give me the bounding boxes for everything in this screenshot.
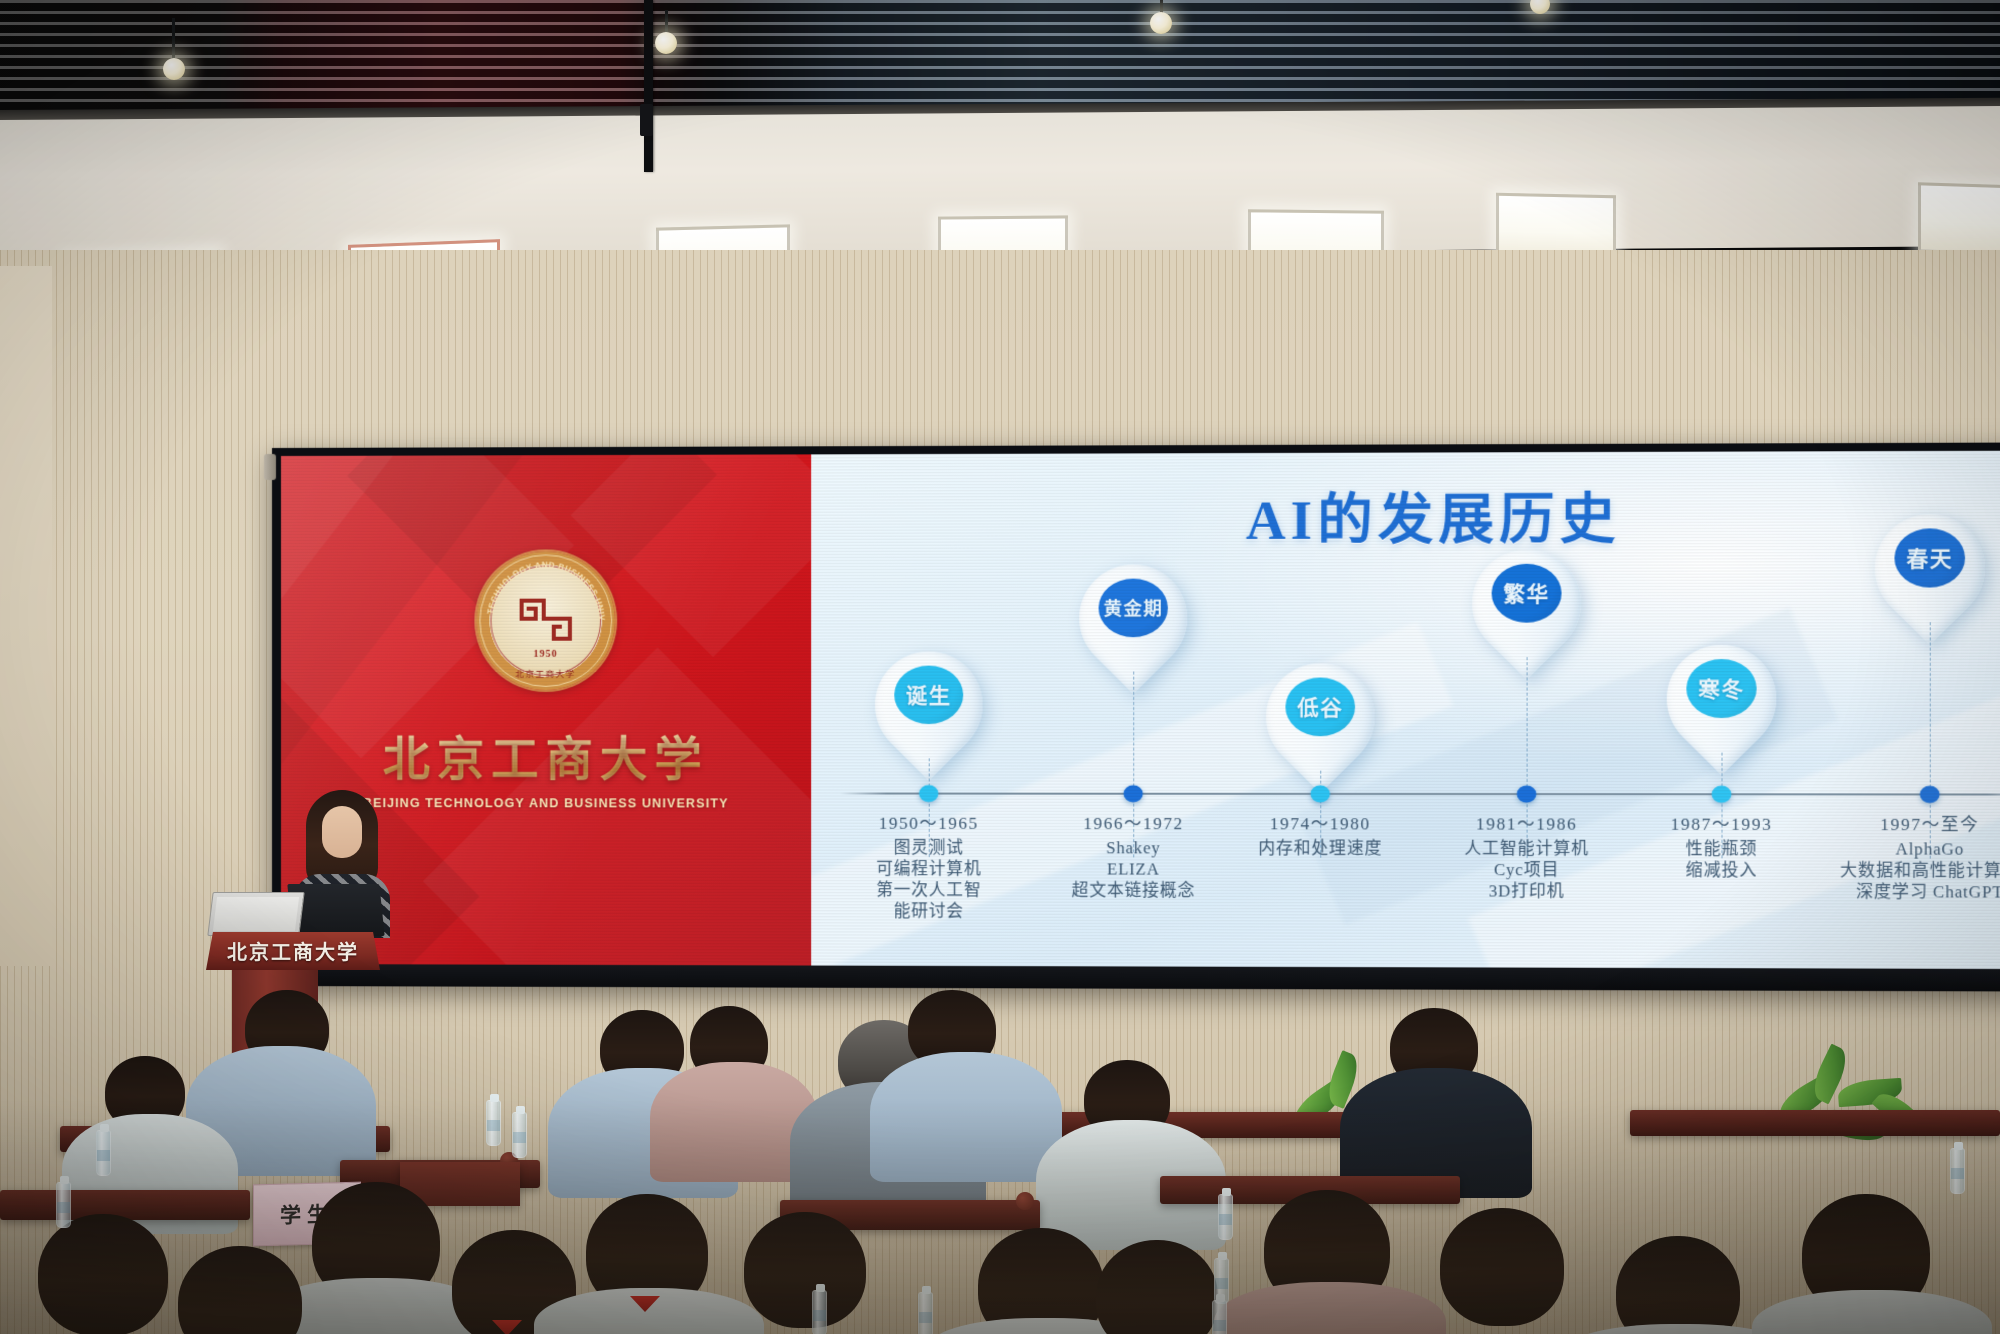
timeline-entry-line-1: ELIZA [1016,858,1251,880]
timeline-entry-5: 1997～至今AlphaGo大数据和高性能计算机深度学习 ChatGPT [1811,810,2000,903]
university-seal-icon: BEIJING TECHNOLOGY AND BUSINESS UNIVERSI… [476,551,615,690]
presenter-face [322,806,362,858]
timeline-entry-line-0: 内存和处理速度 [1203,837,1439,859]
timeline-entry-line-1: 可编程计算机 [812,858,1045,880]
university-name-cn: 北京工商大学 [383,720,709,789]
timeline-pin-1: 黄金期 [1079,564,1187,671]
timeline-entry-0: 1950～1965图灵测试可编程计算机第一次人工智能研讨会 [812,809,1045,923]
timeline-entry-years: 1974～1980 [1203,809,1439,835]
timeline-dot-0 [919,785,938,802]
timeline-entry-line-2: 第一次人工智 [812,879,1045,901]
pin-label: 低谷 [1285,678,1355,737]
timeline-entry-line-2: 3D打印机 [1408,880,1645,902]
projection-screen: BEIJING TECHNOLOGY AND BUSINESS UNIVERSI… [272,442,2000,991]
pin-label: 诞生 [894,666,963,724]
pendant-light [655,32,677,54]
timeline-entry-line-1: 缩减投入 [1603,859,1841,881]
timeline-dot-5 [1920,786,1940,803]
pin-label: 黄金期 [1099,579,1168,638]
timeline-entry-2: 1974～1980内存和处理速度 [1203,809,1439,859]
pin-label: 春天 [1894,528,1965,587]
timeline-entries: 1950～1965图灵测试可编程计算机第一次人工智能研讨会1966～1972Sh… [811,451,2000,455]
timeline-entry-line-2: 深度学习 ChatGPT [1811,881,2000,903]
pendant-light [1150,12,1172,34]
timeline-dot-4 [1712,786,1732,803]
presenter-laptop [207,892,304,936]
timeline-pins: 诞生黄金期低谷繁华寒冬春天 [811,451,2000,455]
timeline-entry-line-0: 图灵测试 [812,837,1045,859]
timeline-pin-2: 低谷 [1266,663,1375,770]
timeline-pin-5: 春天 [1875,514,1985,622]
timeline-entry-line-0: 性能瓶颈 [1603,838,1841,860]
ceiling-cable-clamp [640,104,653,136]
room-shadow [0,1100,2000,1334]
slide-title: AI的发展历史 [811,473,2000,556]
timeline-entry-years: 1997～至今 [1811,810,2000,836]
timeline-dot-2 [1310,785,1329,802]
screen-mount-bracket [264,454,276,480]
timeline-entry-line-0: AlphaGo [1811,838,2000,860]
seal-ring-text-icon: BEIJING TECHNOLOGY AND BUSINESS UNIVERSI… [476,551,615,690]
podium-sign-text: 北京工商大学 [206,936,380,965]
timeline-entry-years: 1987～1993 [1603,809,1841,835]
recessed-ceiling-light [1918,182,2000,255]
timeline-pin-3: 繁华 [1472,549,1581,657]
pendant-light [163,58,185,80]
lecture-hall-photo: BEIJING TECHNOLOGY AND BUSINESS UNIVERSI… [0,0,2000,1334]
pin-label: 繁华 [1492,564,1562,623]
timeline-entry-line-1: 大数据和高性能计算机 [1811,860,2000,882]
timeline-dots [811,451,2000,455]
timeline-entry-line-2: 超文本链接概念 [1016,880,1251,902]
svg-text:BEIJING TECHNOLOGY AND BUSINES: BEIJING TECHNOLOGY AND BUSINESS UNIVERSI… [476,551,606,621]
timeline-pin-4: 寒冬 [1667,645,1777,753]
slide-timeline-panel: AI的发展历史 诞生黄金期低谷繁华寒冬春天 1950～1965图灵测试可编程计算… [811,451,2000,970]
timeline-dot-3 [1517,785,1537,802]
university-name-en: BEIJING TECHNOLOGY AND BUSINESS UNIVERSI… [363,796,729,810]
university-logo: BEIJING TECHNOLOGY AND BUSINESS UNIVERSI… [281,551,811,811]
timeline-entry-4: 1987～1993性能瓶颈缩减投入 [1603,809,1841,881]
timeline-entry-line-3: 能研讨会 [812,900,1045,922]
wall-left-panel [0,266,52,966]
ceiling-cable [644,0,653,172]
timeline-entry-years: 1950～1965 [812,809,1045,834]
timeline-pin-0: 诞生 [875,651,983,758]
pin-label: 寒冬 [1686,659,1756,718]
timeline-dot-1 [1124,785,1143,802]
